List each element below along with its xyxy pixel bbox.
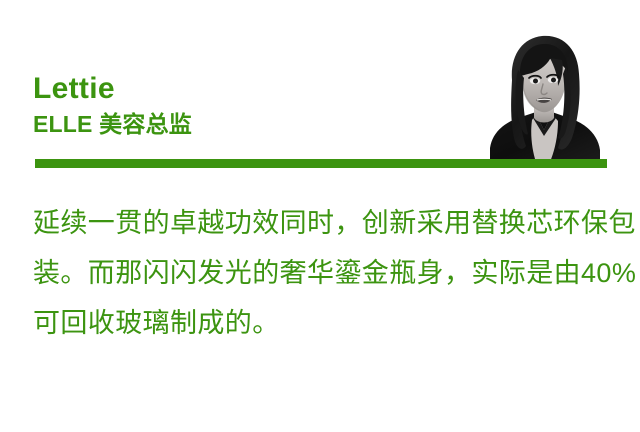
green-divider-rule [35,159,607,168]
author-name: Lettie [33,72,453,106]
header-block: Lettie ELLE 美容总监 [0,0,640,172]
body-line: 装。而那闪闪发光的奢华鎏金瓶身，实际是由40% [33,248,627,298]
author-portrait-image [478,26,610,162]
body-line: 可回收玻璃制成的。 [33,298,627,348]
byline: Lettie ELLE 美容总监 [33,72,453,138]
body-copy: 延续一贯的卓越功效同时，创新采用替换芯环保包 装。而那闪闪发光的奢华鎏金瓶身，实… [33,198,627,348]
author-role: ELLE 美容总监 [33,110,453,138]
body-line: 延续一贯的卓越功效同时，创新采用替换芯环保包 [33,198,627,248]
